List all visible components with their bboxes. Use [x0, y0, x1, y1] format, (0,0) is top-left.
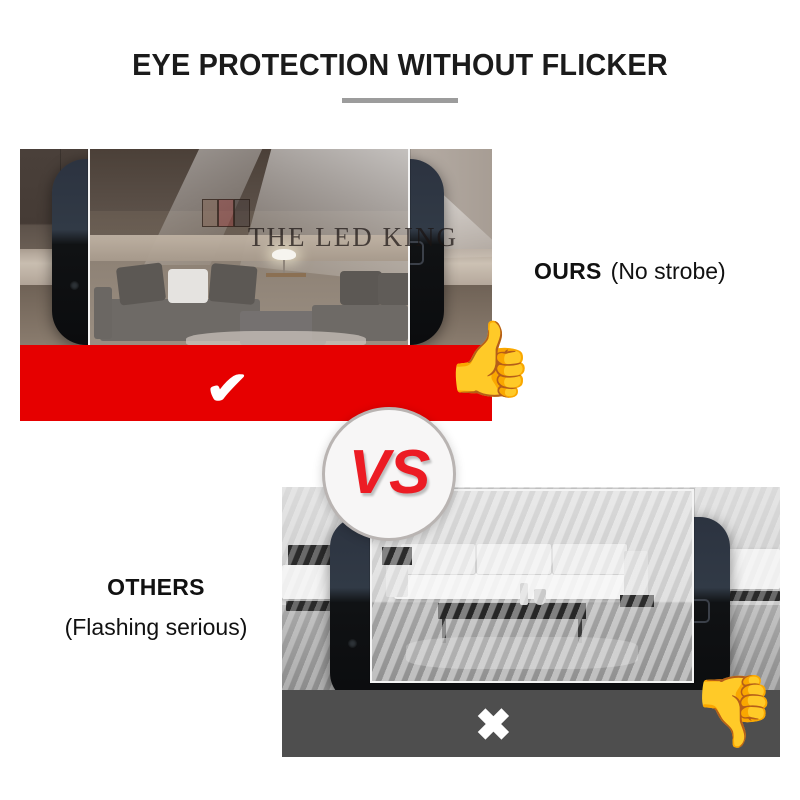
others-caption: OTHERS (Flashing serious)	[36, 574, 276, 641]
ours-verdict-band: ✔	[20, 345, 492, 421]
check-icon: ✔	[205, 365, 249, 411]
cross-icon: ✖	[475, 704, 512, 748]
ours-caption-strong: OURS	[534, 258, 602, 284]
ours-phone-screen	[88, 149, 410, 353]
phone-camera-icon	[70, 281, 79, 290]
title-underline-rule	[342, 98, 458, 103]
phone-camera-icon	[348, 639, 357, 648]
thumbs-up-icon: 👍	[443, 322, 535, 396]
vs-badge: VS	[322, 407, 456, 541]
ours-caption: OURS(No strobe)	[534, 258, 726, 285]
ours-caption-light: (No strobe)	[611, 258, 726, 284]
poster-canvas: EYE PROTECTION WITHOUT FLICKER	[0, 0, 800, 800]
thumbs-down-icon: 👎	[690, 676, 777, 746]
vs-label: VS	[349, 437, 430, 508]
page-title: EYE PROTECTION WITHOUT FLICKER	[28, 47, 772, 83]
others-caption-strong: OTHERS	[36, 574, 276, 601]
ours-panel: ✔	[20, 149, 492, 421]
others-caption-light: (Flashing serious)	[36, 614, 276, 641]
